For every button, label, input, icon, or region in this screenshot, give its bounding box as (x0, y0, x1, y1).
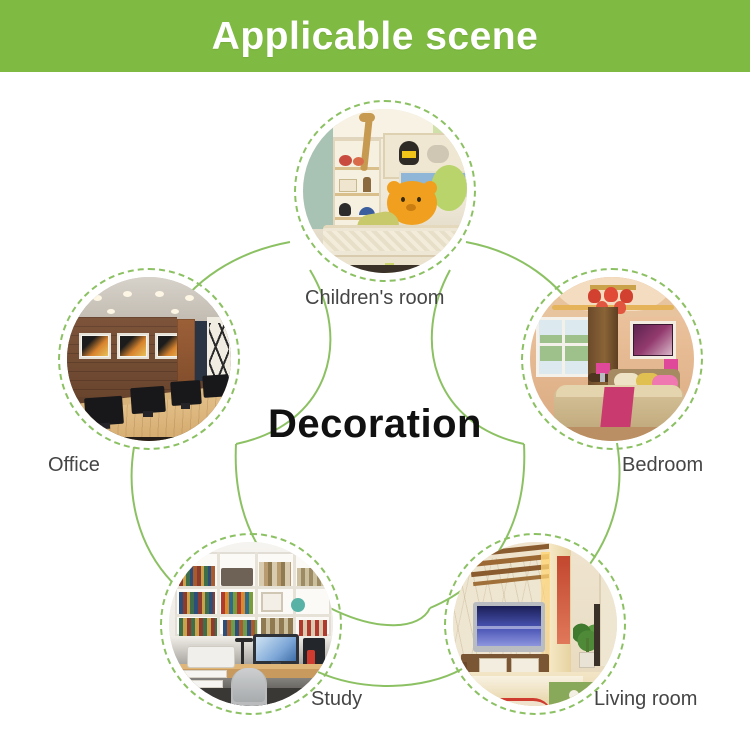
study-illustration (169, 542, 333, 706)
living-room-photo (453, 542, 617, 706)
scene-diagram: Decoration Children's room (0, 72, 750, 750)
office-photo (67, 277, 231, 441)
study-photo (169, 542, 333, 706)
office-illustration (67, 277, 231, 441)
bedroom-illustration (530, 277, 694, 441)
page-title: Applicable scene (212, 17, 539, 56)
scene-label-living-room: Living room (594, 689, 697, 709)
children-room-illustration (303, 109, 467, 273)
scene-node-bedroom[interactable] (521, 268, 703, 450)
scene-label-office: Office (48, 455, 100, 475)
scene-node-office[interactable] (58, 268, 240, 450)
living-room-illustration (453, 542, 617, 706)
scene-label-bedroom: Bedroom (622, 455, 703, 475)
scene-label-children-room: Children's room (305, 288, 444, 308)
scene-node-children-room[interactable] (294, 100, 476, 282)
scene-label-study: Study (311, 689, 362, 709)
children-room-photo (303, 109, 467, 273)
header-banner: Applicable scene (0, 0, 750, 72)
bedroom-photo (530, 277, 694, 441)
inner-arc-5 (330, 608, 430, 625)
